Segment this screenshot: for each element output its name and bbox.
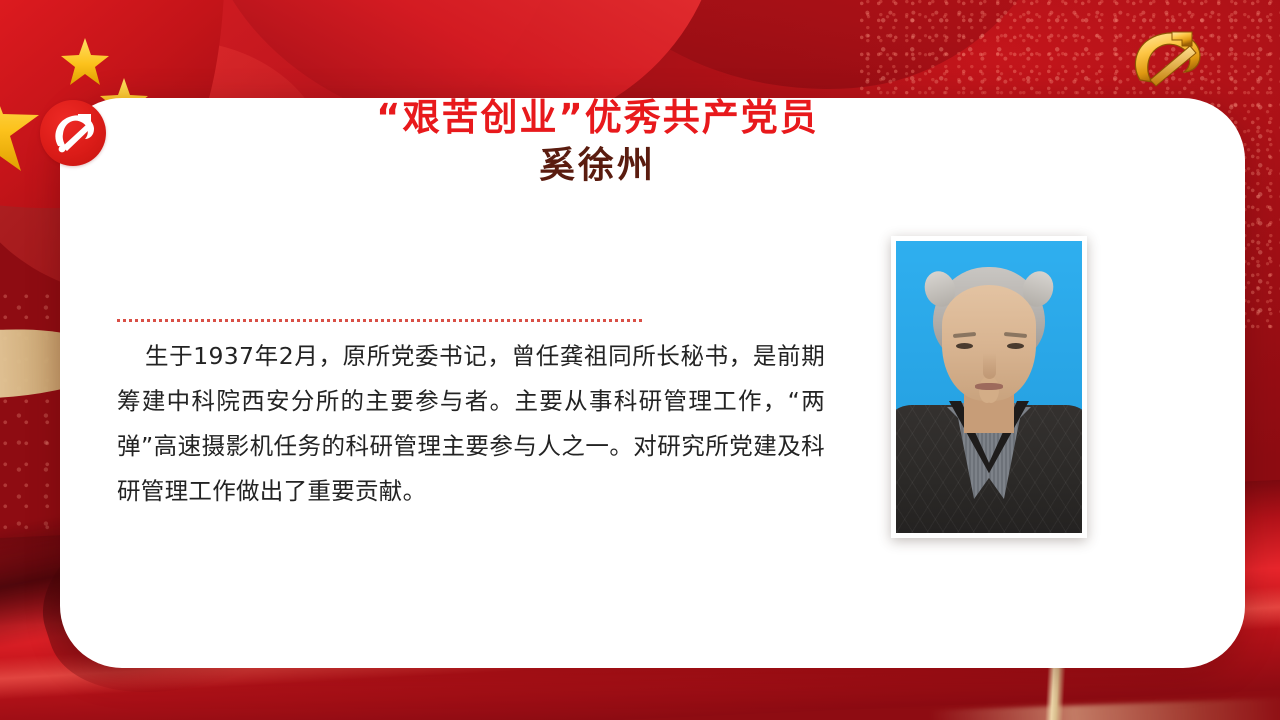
biography-paragraph: 生于1937年2月，原所党委书记，曾任龚祖同所长秘书，是前期筹建中科院西安分所的… [117, 334, 825, 514]
page-title-line1: “艰苦创业”优秀共产党员 [106, 94, 1089, 141]
portrait-mouth [975, 383, 1003, 390]
portrait-eye-right [1007, 343, 1024, 349]
dotted-divider [117, 319, 645, 322]
portrait-photo [891, 236, 1087, 538]
page-title-name: 奚徐州 [106, 143, 1089, 188]
portrait-eye-left [956, 343, 973, 349]
portrait-nose [983, 353, 996, 379]
title-block: “艰苦创业”优秀共产党员 奚徐州 [106, 94, 1145, 188]
cpc-party-badge-icon [40, 100, 106, 166]
slide-root: “艰苦创业”优秀共产党员 奚徐州 生于1937年2月，原所党委书记，曾任龚祖同所… [0, 0, 1280, 720]
cpc-emblem-icon [1120, 22, 1216, 92]
header: “艰苦创业”优秀共产党员 奚徐州 [40, 94, 1145, 188]
portrait-photo-image [896, 241, 1082, 533]
portrait-ear-right [979, 377, 995, 403]
